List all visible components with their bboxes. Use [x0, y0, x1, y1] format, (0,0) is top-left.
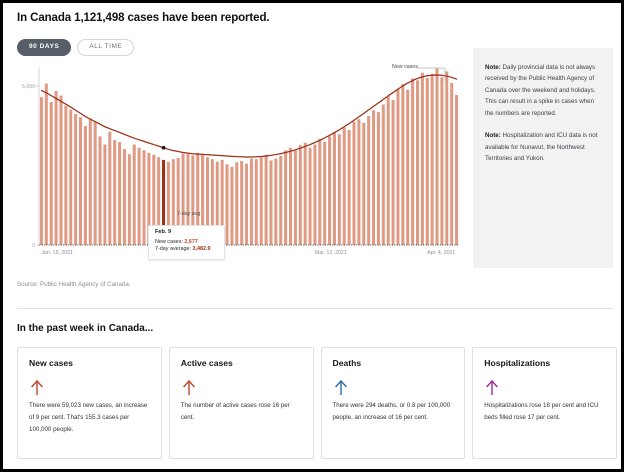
- arrow-up-icon: [181, 378, 303, 396]
- stat-card-list: New cases There were 59,023 new cases, a…: [17, 347, 617, 459]
- arrow-up-icon: [333, 378, 455, 396]
- svg-text:Jan. 15, 2021: Jan. 15, 2021: [41, 250, 73, 256]
- time-range-toggle-group: 90 DAYS ALL TIME: [17, 39, 134, 56]
- svg-text:5,000: 5,000: [22, 84, 35, 90]
- stat-card-title: Deaths: [333, 359, 455, 368]
- arrow-up-icon: [484, 378, 606, 396]
- tooltip-date: Feb. 9: [155, 230, 219, 236]
- note-text: Daily provincial data is not always rece…: [485, 64, 595, 117]
- stat-card-body: The number of active cases rose 16 per c…: [181, 400, 303, 424]
- chart-tooltip: Feb. 9 New cases: 2,677 7-day average: 3…: [148, 225, 225, 260]
- note-prefix: Note:: [485, 64, 501, 71]
- note-item: Note: Hospitalization and ICU data is no…: [485, 130, 601, 164]
- stat-card-hospitalizations[interactable]: Hospitalizations Hospitalizations rose 1…: [472, 347, 617, 459]
- chart-source: Source: Public Health Agency of Canada.: [17, 281, 131, 288]
- note-item: Note: Daily provincial data is not alway…: [485, 62, 601, 119]
- toggle-90-days[interactable]: 90 DAYS: [17, 39, 71, 56]
- svg-text:Mar. 12, 2021: Mar. 12, 2021: [315, 250, 347, 256]
- stat-card-active-cases[interactable]: Active cases The number of active cases …: [169, 347, 314, 459]
- stat-card-body: There were 59,023 new cases, an increase…: [29, 400, 151, 436]
- svg-text:0: 0: [32, 243, 35, 249]
- arrow-up-icon: [29, 378, 151, 396]
- tooltip-new-cases-label: New cases:: [155, 239, 183, 245]
- svg-text:Apr. 4, 2021: Apr. 4, 2021: [427, 250, 455, 256]
- arrow-up-icon-svg: [181, 378, 197, 396]
- stat-card-deaths[interactable]: Deaths There were 294 deaths, or 0.8 per…: [321, 347, 466, 459]
- tooltip-average-label: 7-day average:: [155, 246, 191, 252]
- annotation-new-cases: New cases: [392, 64, 418, 70]
- section-divider: [17, 308, 613, 309]
- tooltip-new-cases-value: 2,677: [184, 239, 198, 245]
- arrow-up-icon-svg: [29, 378, 45, 396]
- tooltip-average-value: 3,482.9: [192, 246, 210, 252]
- notes-panel: Note: Daily provincial data is not alway…: [473, 48, 613, 268]
- dashboard-inner: In Canada 1,121,498 cases have been repo…: [3, 3, 621, 469]
- stat-card-body: Hospitalizations rose 18 per cent and IC…: [484, 400, 606, 424]
- toggle-all-time[interactable]: ALL TIME: [77, 39, 134, 56]
- page-title: In Canada 1,121,498 cases have been repo…: [17, 12, 269, 24]
- arrow-up-icon-svg: [333, 378, 349, 396]
- chart-canvas[interactable]: 05,000Jan. 15, 2021Feb. 13, 2021Mar. 12,…: [17, 59, 465, 267]
- stat-card-body: There were 294 deaths, or 0.8 per 100,00…: [333, 400, 455, 424]
- tooltip-new-cases: New cases: 2,677: [155, 239, 219, 247]
- note-prefix: Note:: [485, 132, 501, 139]
- arrow-up-icon-svg: [484, 378, 500, 396]
- dashboard-page: In Canada 1,121,498 cases have been repo…: [0, 0, 624, 472]
- annotation-7day-average: 7-day avg.: [177, 211, 202, 217]
- cases-chart[interactable]: 05,000Jan. 15, 2021Feb. 13, 2021Mar. 12,…: [17, 59, 465, 267]
- stat-card-new-cases[interactable]: New cases There were 59,023 new cases, a…: [17, 347, 162, 459]
- tooltip-average: 7-day average: 3,482.9: [155, 246, 219, 254]
- stat-card-title: Active cases: [181, 359, 303, 368]
- section-title-past-week: In the past week in Canada...: [17, 323, 153, 334]
- stat-card-title: New cases: [29, 359, 151, 368]
- note-text: Hospitalization and ICU data is not avai…: [485, 132, 597, 162]
- stat-card-title: Hospitalizations: [484, 359, 606, 368]
